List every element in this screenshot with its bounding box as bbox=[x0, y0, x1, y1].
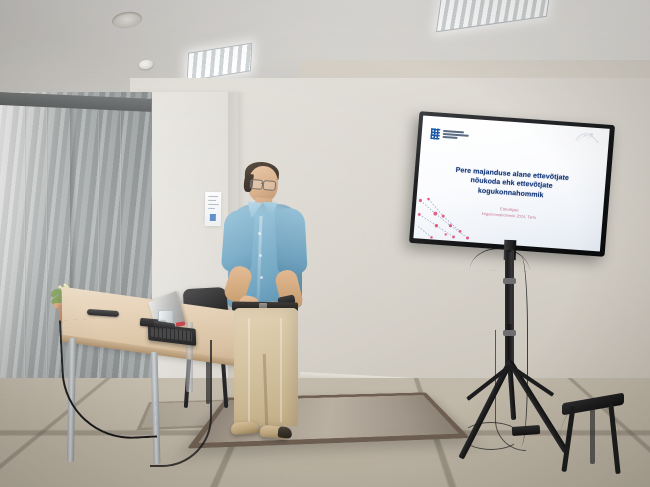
shirt-button bbox=[259, 254, 262, 257]
chair-secondary-leg bbox=[608, 404, 620, 474]
slide-watermark-icon bbox=[573, 130, 600, 145]
presenter-shoe-toe bbox=[277, 426, 292, 438]
curtain-fold bbox=[46, 92, 48, 422]
chair-secondary-leg bbox=[561, 406, 575, 472]
power-adapter bbox=[512, 425, 541, 436]
slide-organization-logo bbox=[430, 128, 468, 142]
trouser-crease bbox=[248, 318, 250, 422]
presenter-sleeve-left bbox=[221, 209, 255, 273]
shirt-button bbox=[260, 276, 263, 279]
photo-scene: Pere majanduse alane ettevõtjate nõukoda… bbox=[0, 0, 650, 487]
curtain-fold bbox=[24, 92, 26, 422]
logo-mark-icon bbox=[430, 128, 440, 140]
logo-wordmark bbox=[442, 129, 469, 139]
eyeglasses-icon bbox=[250, 179, 278, 189]
presenter-shoe-left bbox=[231, 421, 260, 435]
floor-cable-loop bbox=[462, 422, 520, 450]
chair-secondary bbox=[558, 398, 628, 476]
presenter bbox=[214, 158, 324, 458]
trouser-crease bbox=[280, 318, 282, 422]
slide-network-graphic-icon bbox=[415, 196, 478, 242]
tv-screen: Pere majanduse alane ettevõtjate nõukoda… bbox=[413, 115, 609, 251]
television[interactable]: Pere majanduse alane ettevõtjate nõukoda… bbox=[409, 111, 615, 257]
shirt-button bbox=[258, 232, 261, 235]
chair-secondary-leg bbox=[590, 406, 595, 464]
presenter-sleeve-right bbox=[274, 207, 307, 274]
